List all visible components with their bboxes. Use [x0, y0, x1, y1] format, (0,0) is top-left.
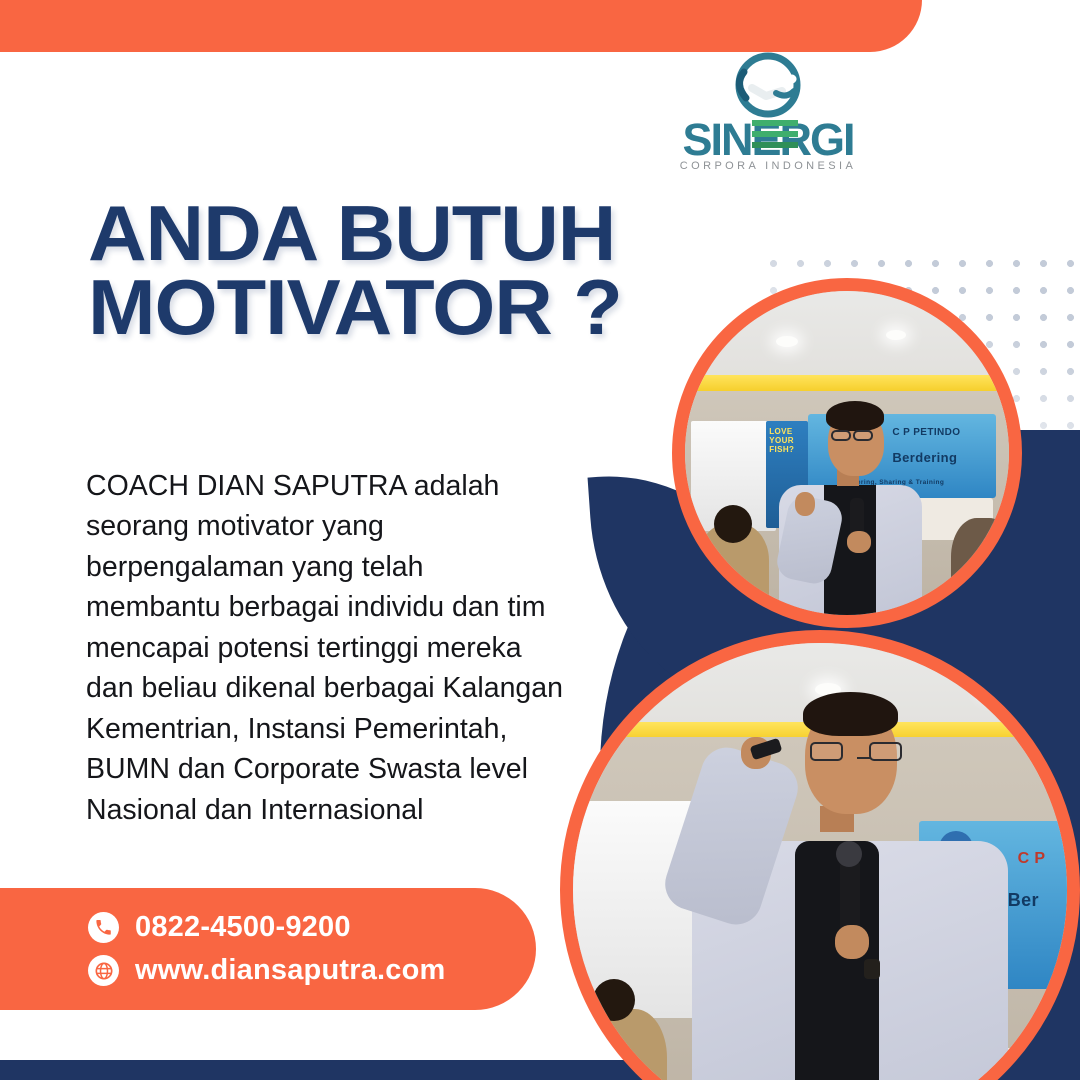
page-title: ANDA BUTUH MOTIVATOR ?	[88, 196, 608, 344]
banner-title: Berdering	[892, 450, 957, 465]
audience-person	[583, 1009, 667, 1080]
poster-text: LOVE YOUR FISH?	[769, 427, 808, 454]
wristwatch	[864, 959, 880, 979]
headline-line-1: ANDA BUTUH	[88, 196, 629, 270]
microphone	[840, 860, 860, 932]
handshake-globe-icon	[648, 52, 888, 118]
globe-icon	[88, 955, 119, 986]
website-url: www.diansaputra.com	[135, 954, 446, 987]
phone-icon	[88, 912, 119, 943]
speaker-hand	[847, 531, 871, 553]
body-paragraph: COACH DIAN SAPUTRA adalah seorang motiva…	[86, 466, 566, 830]
speaker-glasses	[810, 742, 843, 761]
audience-head	[714, 505, 752, 543]
photo-top-scene: LOVE YOUR FISH? C P PETINDO Berdering Ga…	[685, 291, 1009, 615]
photo-bottom-speaker: C P Ber	[560, 630, 1080, 1080]
speaker-hair	[803, 692, 898, 736]
ceiling-light	[983, 683, 1007, 695]
photo-top-speaker: LOVE YOUR FISH? C P PETINDO Berdering Ga…	[672, 278, 1022, 628]
photo-bottom-scene: C P Ber	[573, 643, 1067, 1080]
logo-tagline: CORPORA INDONESIA	[648, 160, 888, 172]
audience-head	[593, 979, 635, 1021]
speaker-jacket-right	[860, 841, 1008, 1080]
microphone-head	[836, 841, 862, 867]
logo-building-bars	[752, 116, 798, 156]
brand-logo: SINERGI CORPORA INDONESIA	[648, 52, 888, 180]
audience-person	[951, 518, 1009, 615]
phone-number: 0822-4500-9200	[135, 911, 351, 944]
speaker-hand-lower	[835, 925, 869, 959]
contact-bar: 0822-4500-9200 www.diansaputra.com	[0, 888, 536, 1010]
speaker-hair	[826, 401, 884, 431]
contact-phone-row[interactable]: 0822-4500-9200	[88, 906, 536, 949]
speaker-glasses	[869, 742, 902, 761]
headline-line-2: MOTIVATOR ?	[88, 270, 629, 344]
banner-brand: C P	[1018, 850, 1046, 868]
glasses-bridge	[857, 757, 871, 760]
speaker-glasses	[853, 430, 873, 441]
banner-title: Ber	[1008, 890, 1039, 911]
poster-canvas: LOVE YOUR FISH? C P PETINDO Berdering Ga…	[0, 0, 1080, 1080]
top-orange-band	[0, 0, 922, 52]
speaker-hand	[795, 492, 815, 516]
speaker-glasses	[831, 430, 851, 441]
contact-website-row[interactable]: www.diansaputra.com	[88, 949, 536, 992]
banner-brand: C P PETINDO	[892, 427, 960, 438]
yellow-ceiling-strip	[685, 375, 1009, 391]
ceiling-light	[886, 330, 906, 340]
